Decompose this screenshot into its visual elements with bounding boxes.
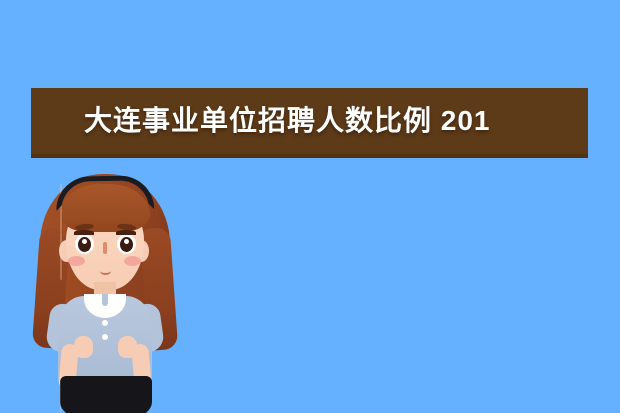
bang-strand [60,232,62,256]
eyelash-right [116,230,136,235]
shirt-button [102,334,108,340]
page-title: 大连事业单位招聘人数比例 201 [31,107,491,135]
blush-right [124,256,141,266]
page-root: 大连事业单位招聘人数比例 201 [0,0,620,413]
headband [56,175,155,211]
nose [103,242,107,254]
eye-left [75,234,94,254]
eye-glint [124,239,129,244]
title-banner: 大连事业单位招聘人数比例 201 [31,88,588,158]
eye-right [117,234,136,254]
shirt-button [102,320,108,326]
bang-strand [60,256,62,280]
collar-notch [102,294,108,306]
hand-left [74,336,93,358]
blush-left [68,256,85,266]
schoolgirl-illustration [34,168,176,413]
bang-strand [60,208,62,232]
mouth [100,267,111,275]
skirt-pleat [60,376,61,413]
hand-right [118,336,137,358]
eye-glint [82,239,87,244]
skirt [60,376,152,413]
eyelash-left [74,230,94,235]
